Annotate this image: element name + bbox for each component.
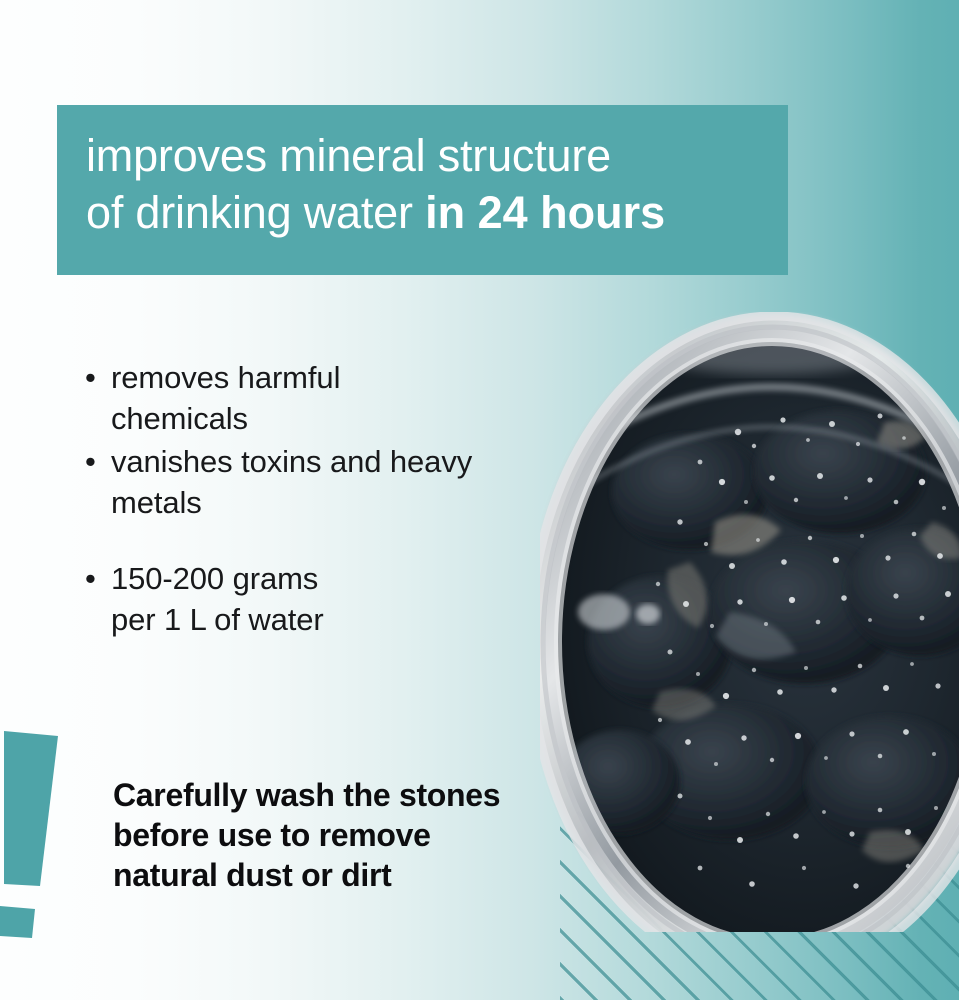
headline-line-2-normal: of drinking water [86,187,425,238]
bullet-dot-icon: • [85,441,111,482]
list-item-label: removes harmful chemicals [111,357,472,439]
dosage-list: • 150-200 grams per 1 L of water [85,558,324,642]
exclamation-mark-icon [0,726,80,938]
headline-text: improves mineral structure of drinking w… [86,127,778,241]
list-item: • vanishes toxins and heavy metals [85,441,472,523]
jar-photo [540,312,959,932]
poster-canvas: improves mineral structure of drinking w… [0,0,959,1000]
warning-text: Carefully wash the stones before use to … [113,775,583,895]
list-item-label: 150-200 grams per 1 L of water [111,558,324,640]
list-item-label: vanishes toxins and heavy metals [111,441,472,523]
headline-banner: improves mineral structure of drinking w… [57,105,788,275]
list-item: • 150-200 grams per 1 L of water [85,558,324,640]
bullet-dot-icon: • [85,357,111,398]
headline-line-1: improves mineral structure [86,130,611,181]
list-item: • removes harmful chemicals [85,357,472,439]
benefits-list: • removes harmful chemicals • vanishes t… [85,357,472,525]
bullet-dot-icon: • [85,558,111,599]
headline-line-2-strong: in 24 hours [425,187,665,238]
